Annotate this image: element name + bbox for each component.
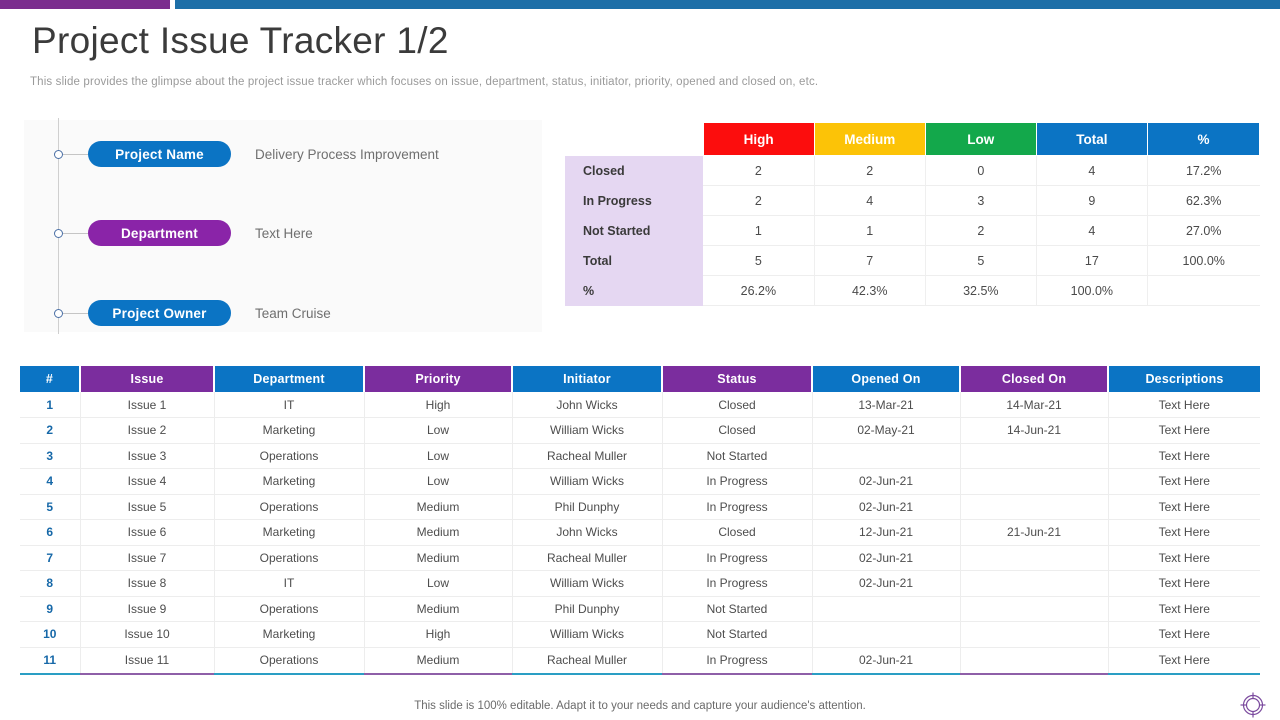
info-value-project-owner: Team Cruise bbox=[255, 300, 331, 326]
table-cell: Low bbox=[364, 469, 512, 495]
summary-cell: 32.5% bbox=[925, 276, 1036, 306]
table-cell: Issue 1 bbox=[80, 392, 214, 418]
table-cell: IT bbox=[214, 571, 364, 597]
info-value-department: Text Here bbox=[255, 220, 313, 246]
table-cell: Low bbox=[364, 443, 512, 469]
table-cell: Text Here bbox=[1108, 443, 1260, 469]
table-cell: Marketing bbox=[214, 622, 364, 648]
table-cell: Issue 6 bbox=[80, 520, 214, 546]
bottom-rule-segment bbox=[512, 673, 662, 675]
summary-cell: 7 bbox=[814, 246, 925, 276]
timeline-node-icon bbox=[54, 150, 63, 159]
table-row[interactable]: 3Issue 3OperationsLowRacheal MullerNot S… bbox=[20, 443, 1260, 469]
table-cell: Phil Dunphy bbox=[512, 494, 662, 520]
table-cell: 02-Jun-21 bbox=[812, 469, 960, 495]
bottom-rule-segment bbox=[662, 673, 812, 675]
issue-col-header-[interactable]: # bbox=[20, 366, 80, 392]
table-cell: Issue 3 bbox=[80, 443, 214, 469]
table-bottom-rule bbox=[20, 673, 1260, 675]
table-cell: Operations bbox=[214, 545, 364, 571]
summary-cell: 5 bbox=[703, 246, 814, 276]
issue-col-header-priority[interactable]: Priority bbox=[364, 366, 512, 392]
summary-row-label: Closed bbox=[565, 156, 703, 186]
summary-table: HighMediumLowTotal% Closed220417.2%In Pr… bbox=[565, 122, 1260, 306]
summary-cell: 100.0% bbox=[1147, 246, 1259, 276]
footer-note: This slide is 100% editable. Adapt it to… bbox=[0, 700, 1280, 712]
row-index-cell: 3 bbox=[20, 443, 80, 469]
summary-cell: 0 bbox=[925, 156, 1036, 186]
table-cell bbox=[812, 596, 960, 622]
table-cell: High bbox=[364, 622, 512, 648]
table-cell: In Progress bbox=[662, 571, 812, 597]
table-cell: Issue 9 bbox=[80, 596, 214, 622]
table-cell: Closed bbox=[662, 392, 812, 418]
summary-cell: 17.2% bbox=[1147, 156, 1259, 186]
table-cell: Phil Dunphy bbox=[512, 596, 662, 622]
table-cell: Not Started bbox=[662, 596, 812, 622]
row-index-cell: 2 bbox=[20, 418, 80, 444]
table-cell bbox=[960, 545, 1108, 571]
issue-col-header-opened-on[interactable]: Opened On bbox=[812, 366, 960, 392]
summary-col-header-low: Low bbox=[925, 123, 1036, 156]
row-index-cell: 9 bbox=[20, 596, 80, 622]
table-cell: William Wicks bbox=[512, 571, 662, 597]
row-index-cell: 5 bbox=[20, 494, 80, 520]
table-cell: Text Here bbox=[1108, 418, 1260, 444]
table-cell: IT bbox=[214, 392, 364, 418]
table-cell: Operations bbox=[214, 647, 364, 673]
table-cell: Medium bbox=[364, 596, 512, 622]
summary-col-header-medium: Medium bbox=[814, 123, 925, 156]
table-cell bbox=[960, 596, 1108, 622]
page-title: Project Issue Tracker 1/2 bbox=[32, 20, 449, 62]
row-index-cell: 6 bbox=[20, 520, 80, 546]
table-cell bbox=[960, 494, 1108, 520]
summary-col-header-total: Total bbox=[1036, 123, 1147, 156]
table-cell: 02-Jun-21 bbox=[812, 571, 960, 597]
table-cell: In Progress bbox=[662, 647, 812, 673]
table-row[interactable]: 2Issue 2MarketingLowWilliam WicksClosed0… bbox=[20, 418, 1260, 444]
summary-cell: 9 bbox=[1036, 186, 1147, 216]
table-cell: Marketing bbox=[214, 418, 364, 444]
info-label-project-owner: Project Owner bbox=[88, 300, 231, 326]
table-cell: Marketing bbox=[214, 469, 364, 495]
summary-cell: 4 bbox=[1036, 216, 1147, 246]
table-cell: Text Here bbox=[1108, 571, 1260, 597]
summary-cell: 1 bbox=[814, 216, 925, 246]
table-cell: Not Started bbox=[662, 622, 812, 648]
table-cell: William Wicks bbox=[512, 469, 662, 495]
table-cell: Issue 7 bbox=[80, 545, 214, 571]
table-cell: 14-Jun-21 bbox=[960, 418, 1108, 444]
table-cell: Issue 2 bbox=[80, 418, 214, 444]
timeline-connector bbox=[63, 313, 89, 314]
summary-cell: 5 bbox=[925, 246, 1036, 276]
table-cell: Issue 4 bbox=[80, 469, 214, 495]
summary-corner-cell bbox=[565, 123, 703, 156]
summary-row-label: Not Started bbox=[565, 216, 703, 246]
table-cell: Low bbox=[364, 418, 512, 444]
table-row[interactable]: 8Issue 8ITLowWilliam WicksIn Progress02-… bbox=[20, 571, 1260, 597]
summary-cell: 2 bbox=[703, 156, 814, 186]
table-cell: Marketing bbox=[214, 520, 364, 546]
table-cell: Operations bbox=[214, 494, 364, 520]
bottom-rule-segment bbox=[1108, 673, 1260, 675]
table-cell: John Wicks bbox=[512, 392, 662, 418]
table-cell: Racheal Muller bbox=[512, 647, 662, 673]
timeline-node-icon bbox=[54, 309, 63, 318]
summary-cell: 4 bbox=[1036, 156, 1147, 186]
row-index-cell: 8 bbox=[20, 571, 80, 597]
summary-row: Closed220417.2% bbox=[565, 156, 1260, 186]
table-cell: Text Here bbox=[1108, 520, 1260, 546]
summary-row: Total57517100.0% bbox=[565, 246, 1260, 276]
summary-cell: 62.3% bbox=[1147, 186, 1259, 216]
summary-row: In Progress243962.3% bbox=[565, 186, 1260, 216]
top-accent-blue-segment bbox=[175, 0, 1280, 9]
table-cell: High bbox=[364, 392, 512, 418]
summary-cell: 3 bbox=[925, 186, 1036, 216]
table-cell bbox=[960, 622, 1108, 648]
summary-cell bbox=[1147, 276, 1259, 306]
table-cell: Not Started bbox=[662, 443, 812, 469]
issue-table: #IssueDepartmentPriorityInitiatorStatusO… bbox=[20, 366, 1260, 675]
summary-row-label: Total bbox=[565, 246, 703, 276]
timeline-node-icon bbox=[54, 229, 63, 238]
bottom-rule-segment bbox=[364, 673, 512, 675]
table-cell: Closed bbox=[662, 520, 812, 546]
table-cell: Text Here bbox=[1108, 469, 1260, 495]
table-cell bbox=[960, 647, 1108, 673]
table-cell: 12-Jun-21 bbox=[812, 520, 960, 546]
summary-cell: 1 bbox=[703, 216, 814, 246]
table-cell: Low bbox=[364, 571, 512, 597]
bottom-rule-segment bbox=[20, 673, 80, 675]
row-index-cell: 11 bbox=[20, 647, 80, 673]
issue-col-header-status[interactable]: Status bbox=[662, 366, 812, 392]
table-cell: William Wicks bbox=[512, 418, 662, 444]
bottom-rule-segment bbox=[80, 673, 214, 675]
summary-cell: 2 bbox=[925, 216, 1036, 246]
table-cell: Text Here bbox=[1108, 596, 1260, 622]
table-cell: 02-Jun-21 bbox=[812, 545, 960, 571]
summary-cell: 100.0% bbox=[1036, 276, 1147, 306]
top-accent-purple-segment bbox=[0, 0, 170, 9]
issue-table-header-row: #IssueDepartmentPriorityInitiatorStatusO… bbox=[20, 366, 1260, 392]
issue-summary-matrix: HighMediumLowTotal% Closed220417.2%In Pr… bbox=[565, 122, 1260, 330]
table-cell: Issue 5 bbox=[80, 494, 214, 520]
table-cell bbox=[960, 571, 1108, 597]
table-cell: Operations bbox=[214, 443, 364, 469]
row-index-cell: 7 bbox=[20, 545, 80, 571]
table-cell: Text Here bbox=[1108, 494, 1260, 520]
table-cell: Issue 8 bbox=[80, 571, 214, 597]
table-cell: Issue 10 bbox=[80, 622, 214, 648]
summary-cell: 27.0% bbox=[1147, 216, 1259, 246]
table-row[interactable]: 11Issue 11OperationsMediumRacheal Muller… bbox=[20, 647, 1260, 673]
page-subtitle: This slide provides the glimpse about th… bbox=[30, 76, 818, 88]
timeline-connector bbox=[63, 233, 89, 234]
issue-col-header-descriptions[interactable]: Descriptions bbox=[1108, 366, 1260, 392]
table-cell: Operations bbox=[214, 596, 364, 622]
row-index-cell: 4 bbox=[20, 469, 80, 495]
bottom-rule-segment bbox=[214, 673, 364, 675]
slide: Project Issue Tracker 1/2 This slide pro… bbox=[0, 0, 1280, 720]
table-cell: 02-Jun-21 bbox=[812, 647, 960, 673]
issue-col-header-department[interactable]: Department bbox=[214, 366, 364, 392]
table-cell: Closed bbox=[662, 418, 812, 444]
table-cell: Text Here bbox=[1108, 392, 1260, 418]
table-cell: Racheal Muller bbox=[512, 443, 662, 469]
table-cell bbox=[960, 469, 1108, 495]
summary-cell: 17 bbox=[1036, 246, 1147, 276]
table-cell: Medium bbox=[364, 494, 512, 520]
table-cell: Issue 11 bbox=[80, 647, 214, 673]
summary-cell: 42.3% bbox=[814, 276, 925, 306]
bottom-rule-segment bbox=[812, 673, 960, 675]
bottom-rule-segment bbox=[960, 673, 1108, 675]
table-cell bbox=[960, 443, 1108, 469]
table-cell: Medium bbox=[364, 545, 512, 571]
table-cell: Text Here bbox=[1108, 622, 1260, 648]
table-row[interactable]: 9Issue 9OperationsMediumPhil DunphyNot S… bbox=[20, 596, 1260, 622]
summary-header-row: HighMediumLowTotal% bbox=[565, 123, 1260, 156]
table-cell: 14-Mar-21 bbox=[960, 392, 1108, 418]
table-row[interactable]: 1Issue 1ITHighJohn WicksClosed13-Mar-211… bbox=[20, 392, 1260, 418]
table-cell: Medium bbox=[364, 647, 512, 673]
table-cell bbox=[812, 443, 960, 469]
timeline-connector bbox=[63, 154, 89, 155]
table-cell: In Progress bbox=[662, 545, 812, 571]
table-row[interactable]: 10Issue 10MarketingHighWilliam WicksNot … bbox=[20, 622, 1260, 648]
issue-col-header-issue[interactable]: Issue bbox=[80, 366, 214, 392]
issue-col-header-initiator[interactable]: Initiator bbox=[512, 366, 662, 392]
summary-col-header-high: High bbox=[703, 123, 814, 156]
summary-cell: 2 bbox=[814, 156, 925, 186]
table-cell: Text Here bbox=[1108, 647, 1260, 673]
table-cell: Text Here bbox=[1108, 545, 1260, 571]
summary-row: Not Started112427.0% bbox=[565, 216, 1260, 246]
company-logo-icon bbox=[1238, 690, 1268, 720]
summary-cell: 2 bbox=[703, 186, 814, 216]
top-accent-bar bbox=[0, 0, 1280, 9]
table-cell: In Progress bbox=[662, 469, 812, 495]
table-cell: In Progress bbox=[662, 494, 812, 520]
table-cell: John Wicks bbox=[512, 520, 662, 546]
table-cell: 21-Jun-21 bbox=[960, 520, 1108, 546]
table-cell: Racheal Muller bbox=[512, 545, 662, 571]
issue-col-header-closed-on[interactable]: Closed On bbox=[960, 366, 1108, 392]
row-index-cell: 10 bbox=[20, 622, 80, 648]
table-cell: 02-Jun-21 bbox=[812, 494, 960, 520]
info-value-project-name: Delivery Process Improvement bbox=[255, 141, 439, 167]
info-label-project-name: Project Name bbox=[88, 141, 231, 167]
summary-cell: 26.2% bbox=[703, 276, 814, 306]
table-row[interactable]: 7Issue 7OperationsMediumRacheal MullerIn… bbox=[20, 545, 1260, 571]
summary-row: %26.2%42.3%32.5%100.0% bbox=[565, 276, 1260, 306]
summary-row-label: % bbox=[565, 276, 703, 306]
table-cell: Medium bbox=[364, 520, 512, 546]
table-cell: William Wicks bbox=[512, 622, 662, 648]
issue-table-grid: #IssueDepartmentPriorityInitiatorStatusO… bbox=[20, 366, 1260, 673]
summary-col-header-: % bbox=[1147, 123, 1259, 156]
row-index-cell: 1 bbox=[20, 392, 80, 418]
summary-cell: 4 bbox=[814, 186, 925, 216]
table-row[interactable]: 4Issue 4MarketingLowWilliam WicksIn Prog… bbox=[20, 469, 1260, 495]
table-cell bbox=[812, 622, 960, 648]
table-row[interactable]: 6Issue 6MarketingMediumJohn WicksClosed1… bbox=[20, 520, 1260, 546]
table-cell: 02-May-21 bbox=[812, 418, 960, 444]
summary-row-label: In Progress bbox=[565, 186, 703, 216]
table-cell: 13-Mar-21 bbox=[812, 392, 960, 418]
table-row[interactable]: 5Issue 5OperationsMediumPhil DunphyIn Pr… bbox=[20, 494, 1260, 520]
info-label-department: Department bbox=[88, 220, 231, 246]
